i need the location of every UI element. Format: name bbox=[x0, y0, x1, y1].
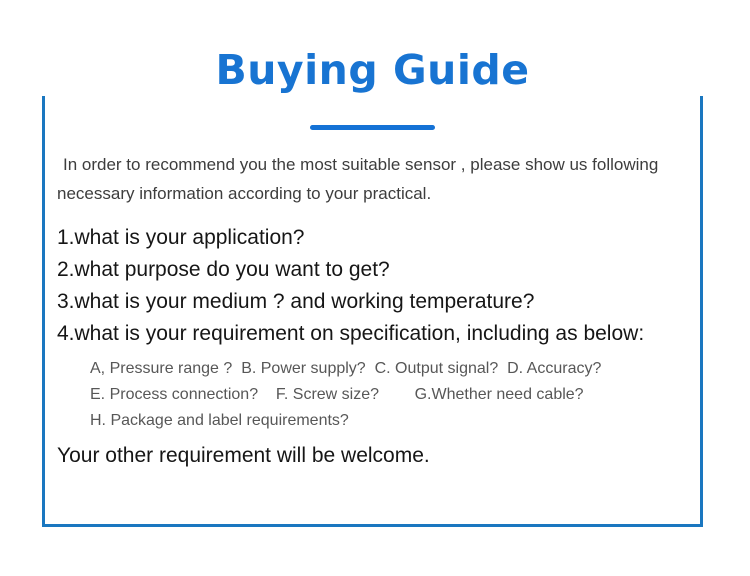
sub-item-row-1: A, Pressure range ? B. Power supply? C. … bbox=[57, 356, 688, 382]
specification-sub-items: A, Pressure range ? B. Power supply? C. … bbox=[57, 356, 688, 434]
question-item-4: 4.what is your requirement on specificat… bbox=[57, 318, 688, 350]
question-item-1: 1.what is your application? bbox=[57, 222, 688, 254]
guide-body: In order to recommend you the most suita… bbox=[57, 150, 688, 472]
intro-paragraph: In order to recommend you the most suita… bbox=[57, 150, 688, 208]
page-title: Buying Guide bbox=[42, 44, 703, 96]
buying-guide-card: Buying Guide In order to recommend you t… bbox=[42, 72, 703, 527]
sub-item-row-2: E. Process connection? F. Screw size? G.… bbox=[57, 382, 688, 408]
question-item-3: 3.what is your medium ? and working temp… bbox=[57, 286, 688, 318]
sub-item-row-3: H. Package and label requirements? bbox=[57, 408, 688, 434]
question-item-2: 2.what purpose do you want to get? bbox=[57, 254, 688, 286]
title-divider bbox=[310, 125, 435, 130]
card-border-left bbox=[42, 72, 45, 527]
closing-line: Your other requirement will be welcome. bbox=[57, 440, 688, 472]
card-border-right bbox=[700, 72, 703, 527]
card-border-bottom bbox=[42, 524, 703, 527]
